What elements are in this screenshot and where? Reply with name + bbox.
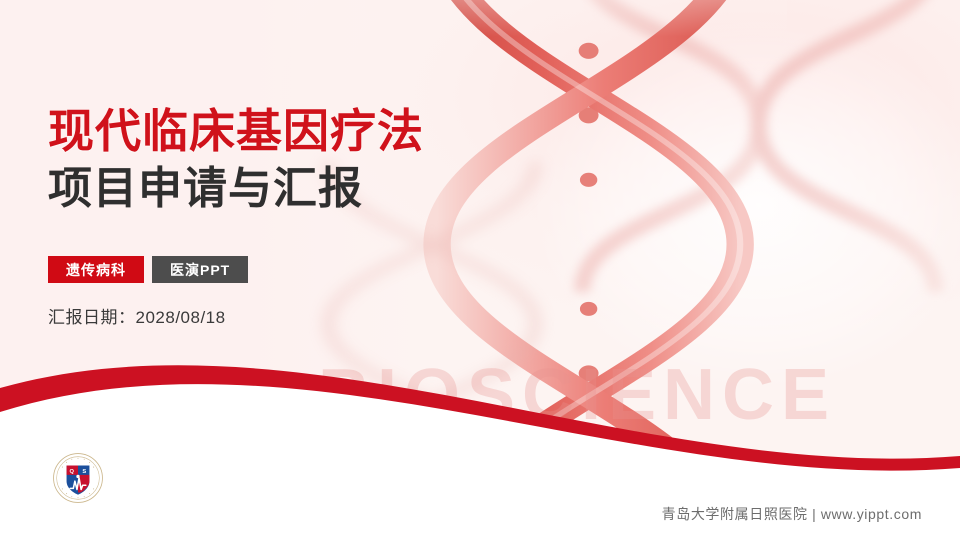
badge-template-author[interactable]: 医演PPT (152, 256, 248, 283)
presentation-cover-slide: BIOSCIENCE 现代临床基因疗法 项目申请与汇报 遗传病科 医演PPT 汇… (0, 0, 960, 540)
badge-department[interactable]: 遗传病科 (48, 256, 144, 283)
report-date: 汇报日期：2028/08/18 (48, 303, 226, 328)
page-title: 现代临床基因疗法 (48, 104, 424, 158)
svg-text:S: S (82, 469, 86, 475)
footer-credit: 青岛大学附属日照医院 | www.yippt.com (662, 504, 922, 524)
title-block: 现代临床基因疗法 项目申请与汇报 (48, 104, 424, 217)
hospital-logo-icon: Q S (52, 452, 104, 504)
svg-text:Q: Q (70, 469, 75, 475)
badge-group: 遗传病科 医演PPT (48, 256, 248, 283)
page-subtitle: 项目申请与汇报 (48, 162, 424, 217)
